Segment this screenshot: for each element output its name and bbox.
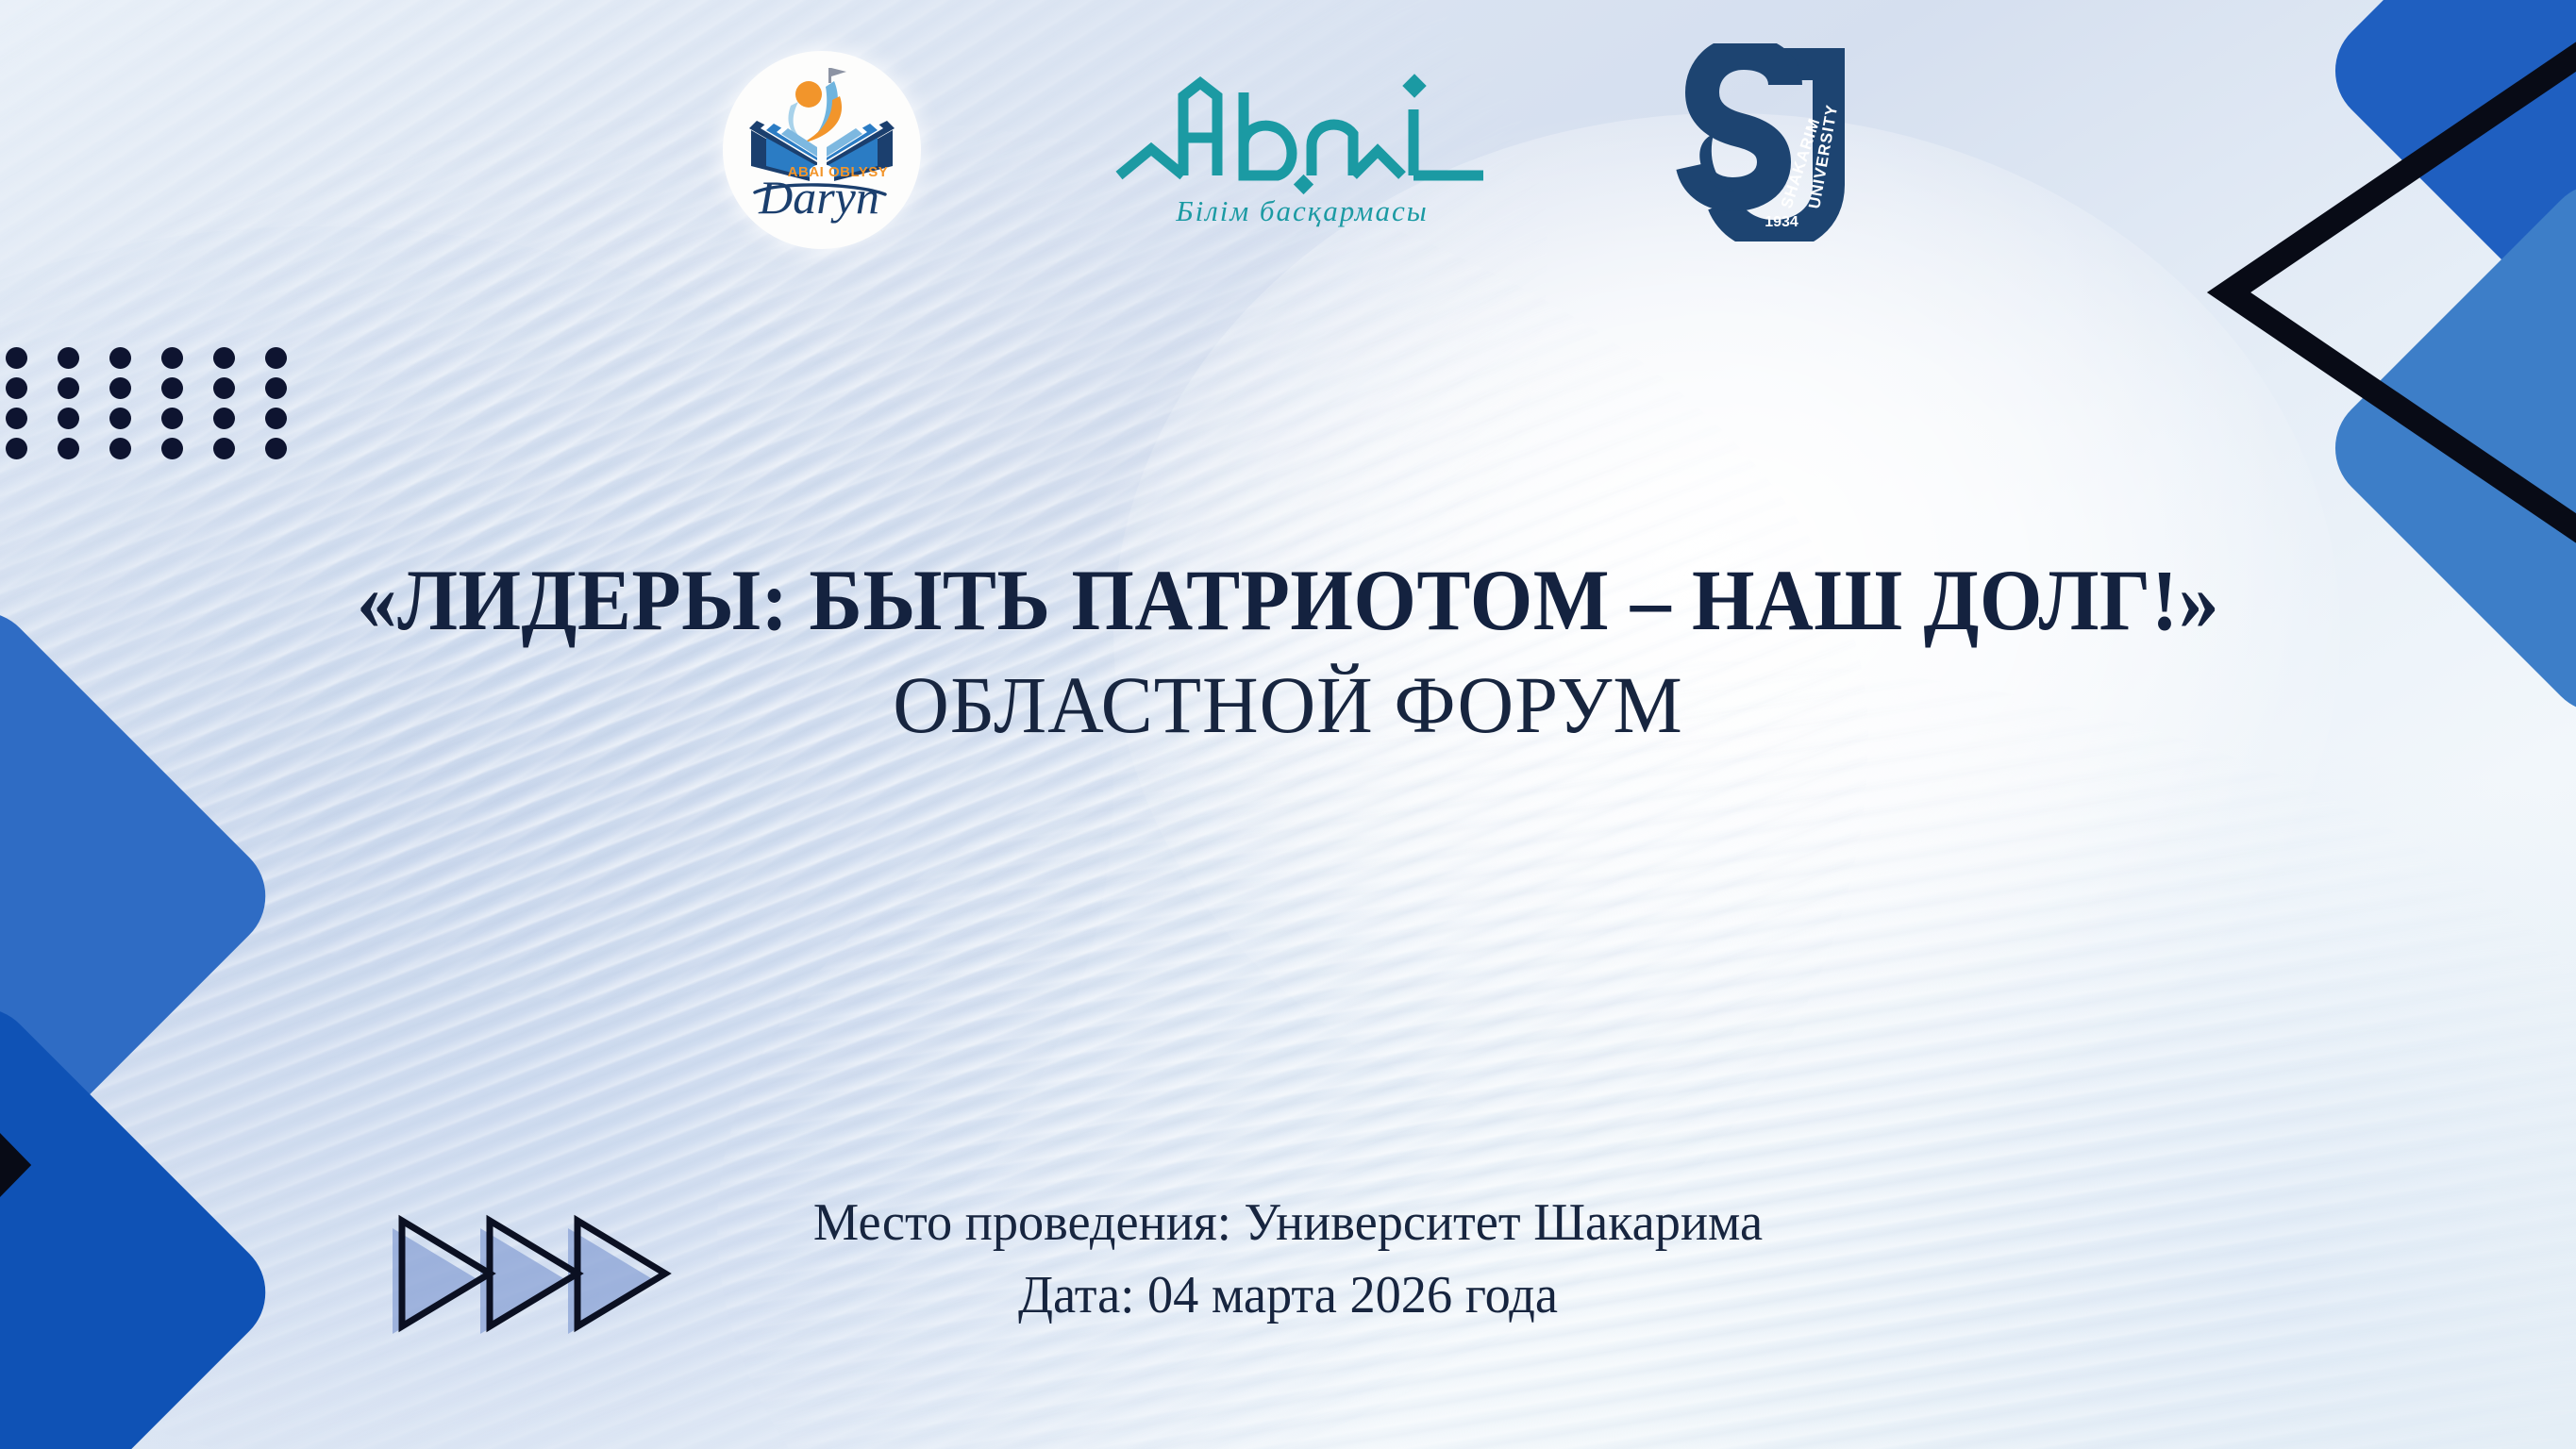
dot <box>109 347 131 369</box>
dot <box>6 438 27 459</box>
dot <box>58 408 79 429</box>
shakarim-logo-art: SHAKARIM UNIVERSITY 1934 <box>1676 43 1865 241</box>
presentation-slide: Daryn ABAI OBLYSY <box>0 0 2576 1449</box>
dot <box>213 438 235 459</box>
dot <box>265 347 287 369</box>
dot <box>58 438 79 459</box>
shakarim-year: 1934 <box>1765 214 1798 230</box>
title-block: «ЛИДЕРЫ: БЫТЬ ПАТРИОТОМ – НАШ ДОЛГ!» ОБЛ… <box>0 555 2576 749</box>
dot <box>265 438 287 459</box>
dot <box>6 347 27 369</box>
dot <box>161 408 183 429</box>
dot <box>161 438 183 459</box>
dot-grid <box>6 347 317 468</box>
dot <box>213 377 235 399</box>
daryn-logo-art: Daryn ABAI OBLYSY <box>723 51 921 249</box>
event-details: Место проведения: Университет Шакарима Д… <box>0 1187 2576 1333</box>
dot <box>265 377 287 399</box>
dot <box>109 377 131 399</box>
dot <box>213 408 235 429</box>
dot <box>213 347 235 369</box>
event-venue: Место проведения: Университет Шакарима <box>39 1187 2537 1259</box>
abai-oblysy-daryn-logo: Daryn ABAI OBLYSY <box>723 51 921 249</box>
logo-bar: Daryn ABAI OBLYSY <box>0 0 2576 264</box>
forum-subtitle: ОБЛАСТНОЙ ФОРУМ <box>52 660 2525 750</box>
dot <box>109 408 131 429</box>
abai-bilim-basqarmasy-logo: Білім басқармасы <box>1102 55 1498 234</box>
daryn-tagline: ABAI OBLYSY <box>788 164 889 180</box>
dot <box>58 377 79 399</box>
dot <box>58 347 79 369</box>
shakarim-university-logo: SHAKARIM UNIVERSITY 1934 <box>1676 43 1865 241</box>
dot <box>109 438 131 459</box>
abai-tagline: Білім басқармасы <box>1175 194 1428 227</box>
abai-logo-art: Білім басқармасы <box>1102 55 1498 234</box>
dot <box>161 347 183 369</box>
dot <box>161 377 183 399</box>
event-date: Дата: 04 марта 2026 года <box>39 1259 2537 1332</box>
forum-title: «ЛИДЕРЫ: БЫТЬ ПАТРИОТОМ – НАШ ДОЛГ!» <box>91 555 2486 647</box>
dot <box>6 408 27 429</box>
dot <box>265 408 287 429</box>
dot <box>6 377 27 399</box>
